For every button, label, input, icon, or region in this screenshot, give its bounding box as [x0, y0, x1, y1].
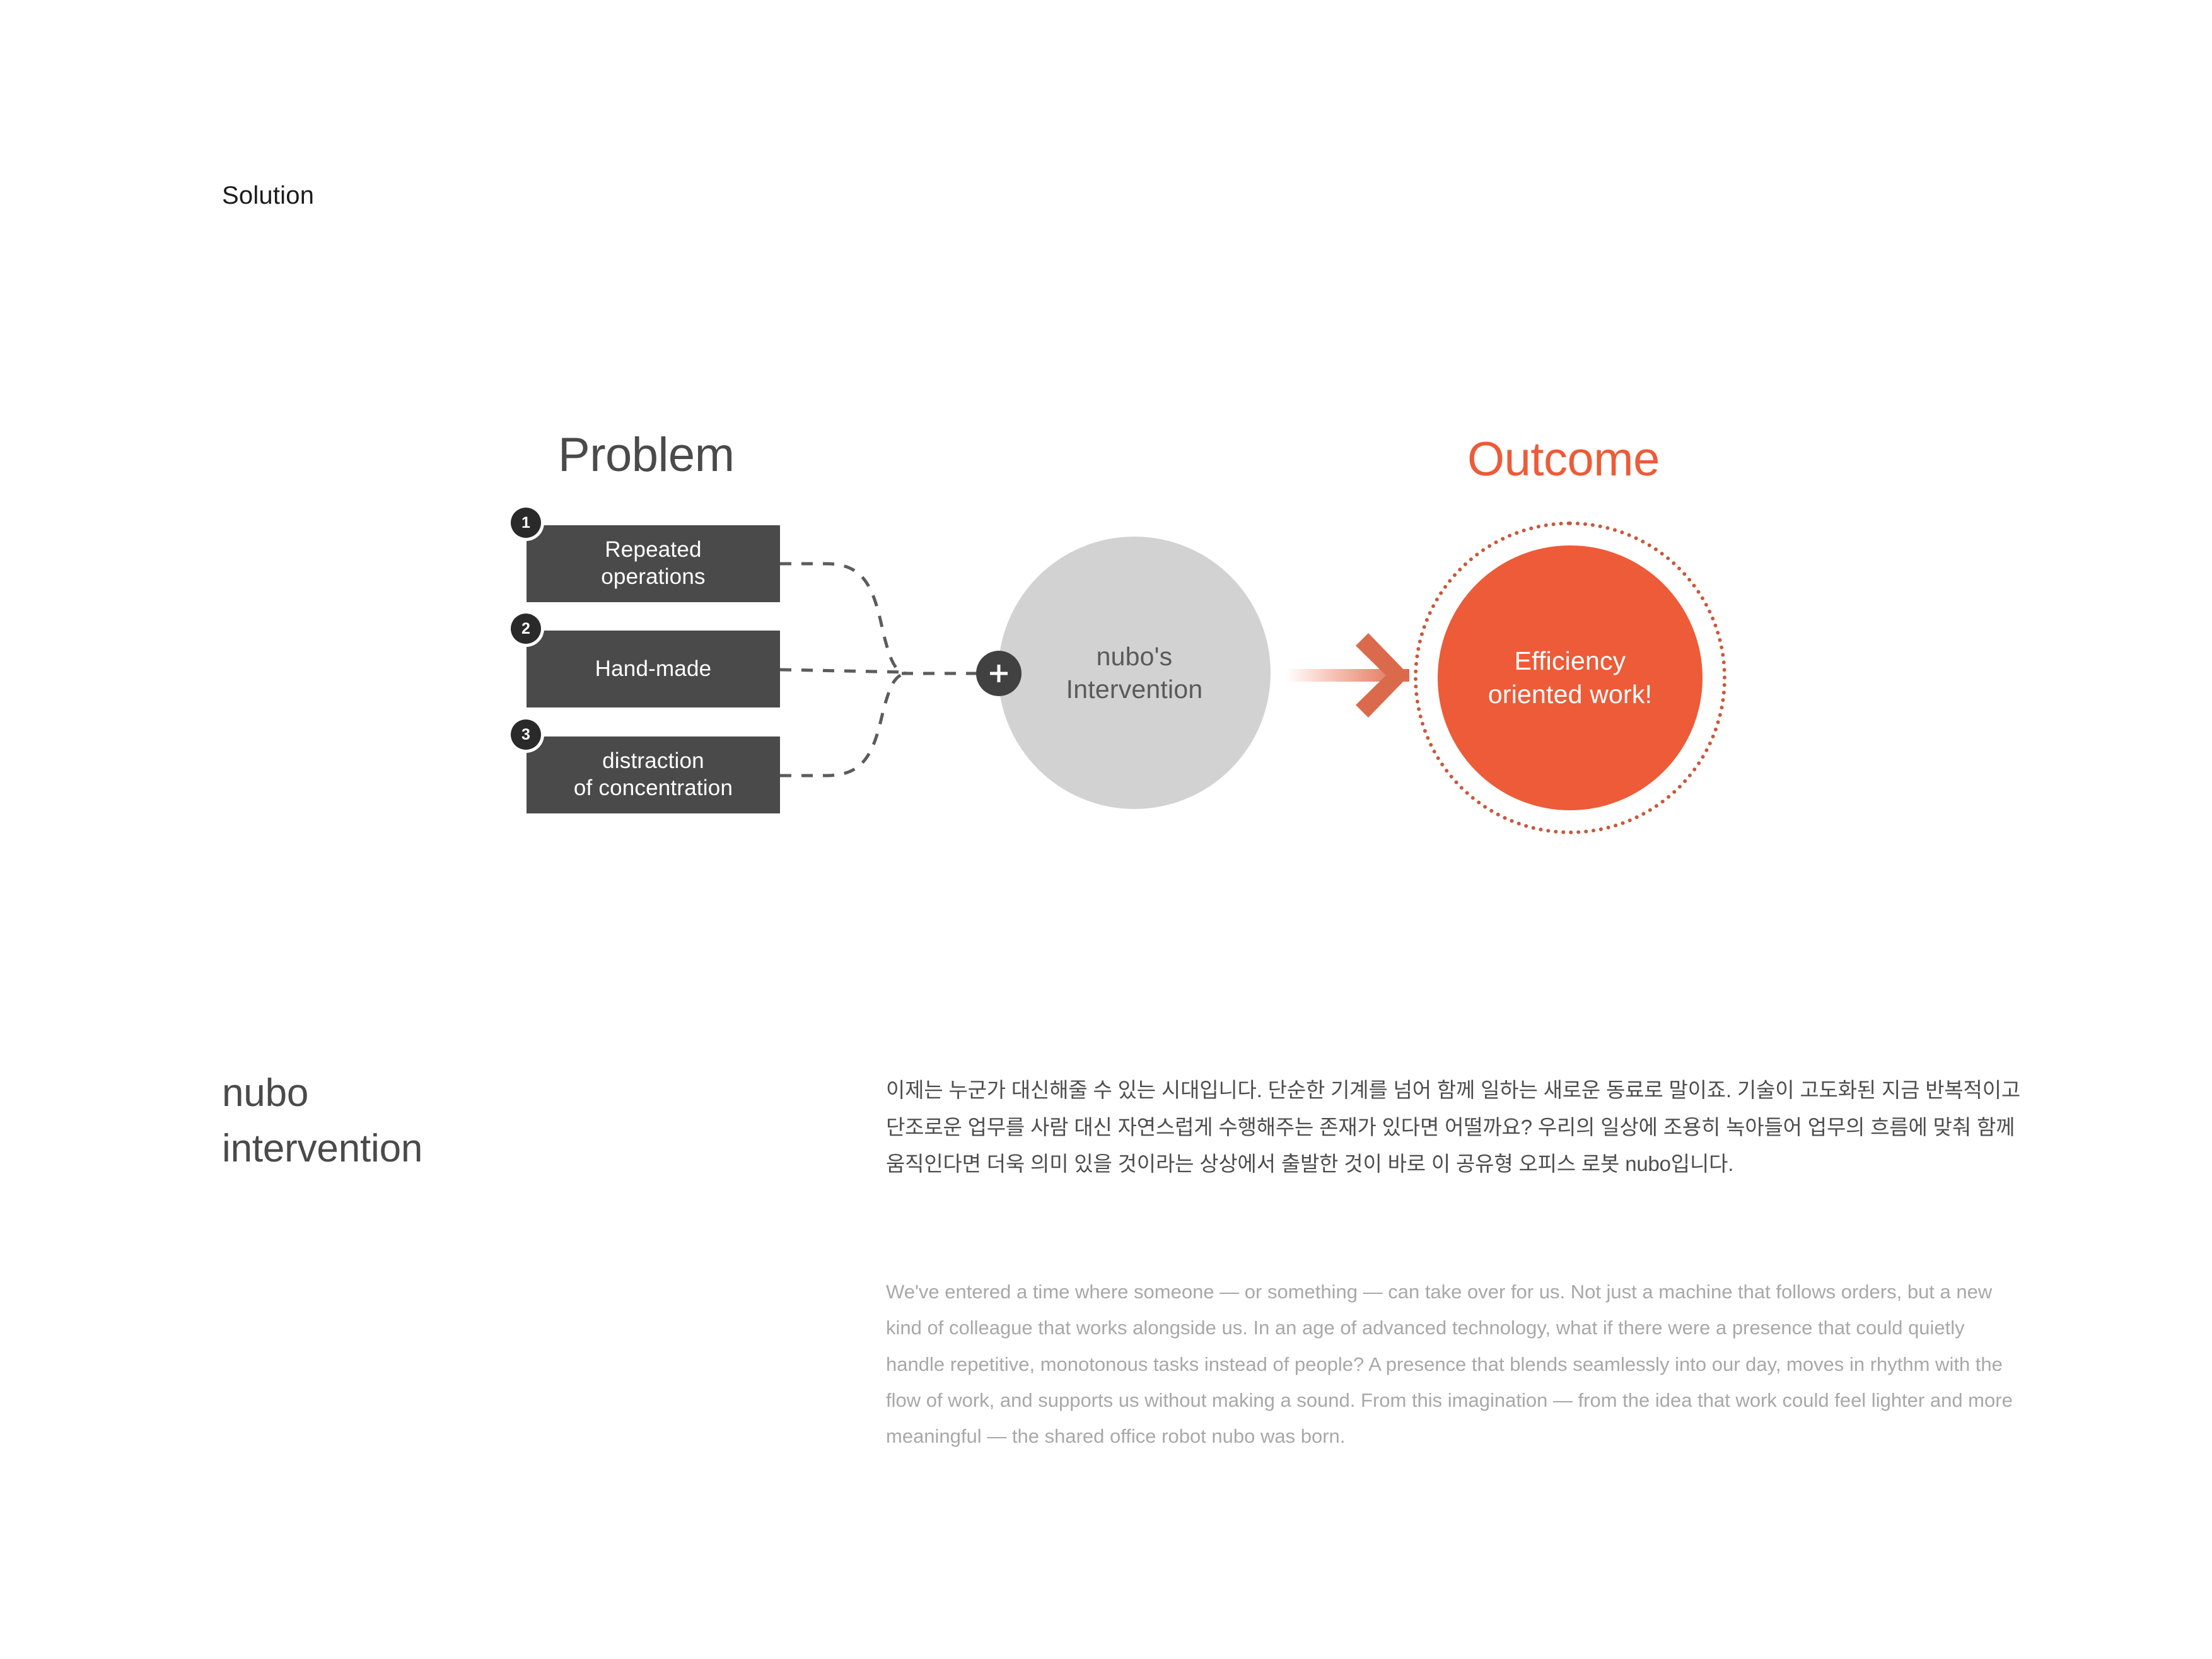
plus-icon	[976, 651, 1022, 696]
problem-badge-2: 2	[511, 614, 541, 644]
problem-box-1[interactable]: Repeated operations	[527, 525, 780, 602]
outcome-line1: Efficiency	[1515, 646, 1626, 675]
problem-box-3[interactable]: distraction of concentration	[527, 736, 780, 813]
connector-line-2	[780, 670, 907, 672]
body-heading-line2: intervention	[222, 1127, 422, 1170]
intervention-line2: Intervention	[1066, 675, 1203, 704]
problem-box-3-label: distraction of concentration	[574, 748, 733, 801]
intervention-label: nubo's Intervention	[1066, 640, 1203, 706]
outcome-label: Efficiency oriented work!	[1488, 644, 1652, 712]
intervention-circle[interactable]: nubo's Intervention	[998, 537, 1271, 809]
problem-box-2[interactable]: Hand-made	[527, 631, 780, 707]
paragraph-korean: 이제는 누군가 대신해줄 수 있는 시대입니다. 단순한 기계를 넘어 함께 일…	[886, 1072, 2024, 1183]
problem-box-3-line1: distraction	[602, 748, 704, 773]
problem-badge-3: 3	[511, 719, 541, 750]
problem-box-3-line2: of concentration	[574, 776, 733, 800]
problem-box-1-line1: Repeated	[605, 537, 701, 562]
body-heading-line1: nubo	[222, 1071, 308, 1115]
outcome-circle[interactable]: Efficiency oriented work!	[1438, 545, 1703, 810]
problem-box-1-label: Repeated operations	[601, 537, 705, 590]
connector-line-1	[780, 564, 907, 673]
body-heading: nubo intervention	[222, 1066, 422, 1177]
outcome-line2: oriented work!	[1488, 680, 1652, 709]
problem-box-2-label: Hand-made	[595, 656, 712, 683]
problem-box-1-line2: operations	[601, 564, 705, 589]
intervention-line1: nubo's	[1097, 642, 1173, 671]
problem-badge-1: 1	[511, 508, 541, 538]
paragraph-english: We've entered a time where someone — or …	[886, 1274, 2024, 1455]
problem-title: Problem	[558, 428, 735, 482]
connector-line-3	[780, 673, 907, 776]
outcome-title: Outcome	[1467, 432, 1660, 487]
slide-canvas: Solution Problem	[0, 0, 2212, 1659]
solution-diagram: Problem Repeated operations 1 Hand-made …	[0, 0, 2212, 946]
